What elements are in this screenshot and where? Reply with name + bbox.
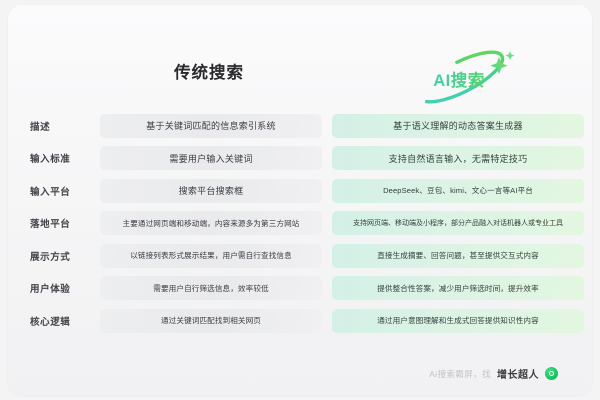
table-row: 描述 基于关键词匹配的信息索引系统 基于语义理解的动态答案生成器 (8, 111, 592, 140)
table-row: 输入平台 搜索平台搜索框 DeepSeek、豆包、kimi、文心一言等AI平台 (8, 176, 592, 205)
cell-ai: 通过用户意图理解和生成式回答提供知识性内容 (332, 309, 584, 333)
column-header-ai-search: AI搜索 (403, 45, 533, 107)
green-circle-badge-icon (545, 367, 558, 380)
table-row: 展示方式 以链接列表形式展示结果，用户需自行查找信息 直接生成摘要、回答问题，甚… (8, 241, 592, 270)
cell-ai: 直接生成摘要、回答问题，甚至提供交互式内容 (332, 244, 584, 268)
cell-ai: 基于语义理解的动态答案生成器 (332, 114, 584, 138)
cell-traditional: 基于关键词匹配的信息索引系统 (100, 114, 322, 138)
table-row: 核心逻辑 通过关键词匹配找到相关网页 通过用户意图理解和生成式回答提供知识性内容 (8, 306, 592, 335)
comparison-card: 传统搜索 (8, 5, 592, 395)
row-label: 输入平台 (8, 184, 100, 198)
table-row: 落地平台 主要通过网页端和移动端，内容来源多为第三方网站 支持网页端、移动端及小… (8, 209, 592, 238)
cell-ai: 提供整合性答案，减少用户筛选时间，提升效率 (332, 276, 584, 300)
cell-traditional: 需要用户输入关键词 (100, 146, 322, 170)
column-header-ai-search-label: AI搜索 (411, 67, 507, 91)
footer-tagline: Ai搜索霸屏，找 (429, 368, 491, 380)
row-label: 用户体验 (8, 281, 100, 295)
cell-ai: 支持自然语言输入，无需特定技巧 (332, 146, 584, 170)
column-headers: 传统搜索 (8, 51, 592, 103)
cell-traditional: 需要用户自行筛选信息，效率较低 (100, 276, 322, 300)
footer-watermark: Ai搜索霸屏，找 增长超人 (8, 366, 592, 381)
cell-traditional: 以链接列表形式展示结果，用户需自行查找信息 (100, 244, 322, 268)
cell-traditional: 主要通过网页端和移动端，内容来源多为第三方网站 (100, 211, 322, 235)
cell-traditional: 通过关键词匹配找到相关网页 (100, 309, 322, 333)
table-row: 用户体验 需要用户自行筛选信息，效率较低 提供整合性答案，减少用户筛选时间，提升… (8, 274, 592, 303)
column-header-traditional-search: 传统搜索 (100, 59, 318, 83)
cell-ai: DeepSeek、豆包、kimi、文心一言等AI平台 (332, 179, 584, 203)
cell-ai: 支持网页端、移动端及小程序，部分产品融入对话机器人或专业工具 (332, 211, 584, 235)
cell-traditional: 搜索平台搜索框 (100, 179, 322, 203)
row-label: 描述 (8, 119, 100, 133)
row-label: 落地平台 (8, 216, 100, 230)
row-label: 核心逻辑 (8, 314, 100, 328)
row-label: 展示方式 (8, 249, 100, 263)
comparison-table: 描述 基于关键词匹配的信息索引系统 基于语义理解的动态答案生成器 输入标准 需要… (8, 111, 592, 339)
table-row: 输入标准 需要用户输入关键词 支持自然语言输入，无需特定技巧 (8, 144, 592, 173)
footer-brand-name: 增长超人 (497, 366, 539, 381)
row-label: 输入标准 (8, 151, 100, 165)
